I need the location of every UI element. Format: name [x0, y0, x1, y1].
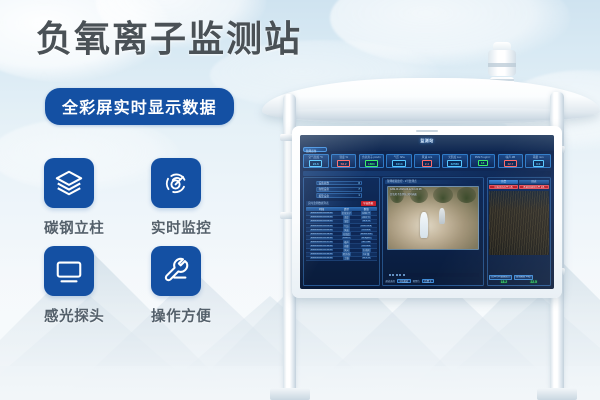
- dashboard-panels: 设备总数8在线设备7报警设备1 实时监测数据列表 导出数据 时间类型数值 202…: [303, 177, 551, 286]
- kpi-name: 湿度 %: [339, 155, 348, 159]
- alert-chip[interactable]: 设备离线告警 1条: [489, 185, 518, 189]
- video-feed[interactable]: CAM-01 2023-06-12 10:24:08 负氧离子监测站 实时画面: [387, 186, 479, 250]
- feature-grid: 碳钢立柱 实时监控 感光探头: [44, 158, 258, 334]
- kpi-tile[interactable]: 湿度 %58.2: [331, 154, 357, 168]
- kpi-value: 58.2: [337, 160, 350, 167]
- table-cell: 2.4 m/s: [356, 229, 377, 231]
- kpi-value: 18: [478, 160, 488, 167]
- table-body: 2023-06-12 10:24:03负氧离子1860 个2023-06-12 …: [306, 212, 377, 261]
- table-cell: 2023-06-12 10:19:03: [306, 233, 337, 235]
- kpi-row: 空气温度 ℃24.6湿度 %58.2负氧离子 pcs/m1860气压 hPa10…: [303, 154, 551, 168]
- table-cell: 光照度: [337, 232, 355, 236]
- radar-icon: [161, 168, 191, 198]
- kpi-name: 光照度 Lux: [448, 155, 461, 159]
- table-cell: 土壤: [337, 256, 355, 260]
- table-cell: 2023-06-12 10:24:03: [306, 212, 337, 214]
- bezel-vent: [416, 130, 438, 132]
- kpi-value: 0.0: [533, 160, 544, 167]
- display-bezel: 监测站 监测点位 空气温度 ℃24.6湿度 %58.2负氧离子 pcs/m186…: [292, 126, 562, 298]
- stat-value: 8: [358, 182, 359, 185]
- kpi-tile[interactable]: 光照度 Lux32560: [442, 154, 468, 168]
- stat-line: 报警设备1: [316, 193, 362, 197]
- dashboard-screen[interactable]: 监测站 监测点位 空气温度 ℃24.6湿度 %58.2负氧离子 pcs/m186…: [300, 135, 554, 289]
- table-cell: 32560 Lux: [356, 233, 377, 235]
- snapshot-icon[interactable]: [396, 274, 398, 276]
- sensor-band: [488, 63, 516, 67]
- table-column-header: 时间: [306, 207, 337, 211]
- kpi-tile[interactable]: 气压 hPa1013: [386, 154, 412, 168]
- preset-label: 预置位: [413, 279, 420, 283]
- table-cell: 2023-06-12 10:18:03: [306, 237, 337, 239]
- kpi-tile[interactable]: PM2.5 ug/m³18: [470, 154, 496, 168]
- table-cell: 2023-06-12 10:23:03: [306, 216, 337, 218]
- table-cell: 2023-06-12 10:22:03: [306, 220, 337, 222]
- stat-label: 设备总数: [319, 181, 329, 185]
- table-cell: 58.2 %: [356, 220, 377, 222]
- monitor-icon: [54, 256, 84, 286]
- table-cell: 1860 个: [356, 211, 377, 215]
- feature-tile: [44, 158, 94, 208]
- stat-line: 设备总数8: [316, 181, 362, 185]
- feature-label: 感光探头: [44, 305, 151, 326]
- stat-box: 设备总数8在线设备7报警设备1: [316, 181, 362, 200]
- kpi-value: 1013: [392, 160, 405, 167]
- feature-tile: [151, 246, 201, 296]
- panel-video: 现场视频监控 - 1号监测点 CAM-01 2023-06-12 10:24:0…: [382, 177, 484, 286]
- stat-label: 报警设备: [319, 194, 329, 198]
- pause-icon[interactable]: [392, 274, 394, 276]
- channel-select[interactable]: 1号通道: [397, 279, 411, 283]
- table-caption: 实时监测数据列表: [307, 201, 329, 205]
- table-cell: 0.0 mm: [356, 245, 377, 247]
- alert-tabs: 告警日志: [489, 180, 548, 184]
- table-toolbar: 实时监测数据列表 导出数据: [306, 201, 377, 206]
- kpi-tile[interactable]: 空气温度 ℃24.6: [303, 154, 329, 168]
- feature-item-steel-column[interactable]: 碳钢立柱: [44, 158, 151, 246]
- stat-value: 1: [358, 194, 359, 197]
- feature-tile: [151, 158, 201, 208]
- kpi-tile[interactable]: 雨量 mm0.0: [525, 154, 551, 168]
- table-column-header: 类型: [337, 207, 355, 211]
- alert-chip[interactable]: 数据超阈值告警 2条: [519, 185, 548, 189]
- kpi-name: 噪声 dB: [506, 155, 515, 159]
- table-cell: 2023-06-12 10:16:03: [306, 245, 337, 247]
- tree-shape: [457, 187, 477, 203]
- monitoring-station-kiosk: 监测站 监测点位 空气温度 ℃24.6湿度 %58.2负氧离子 pcs/m186…: [252, 0, 600, 400]
- wrench-icon: [161, 256, 191, 286]
- kpi-value: 1860: [365, 160, 378, 167]
- panel-alerts: 告警日志 设备离线告警 1条数据超阈值告警 2条 近24小时数据统计自动刷新 3…: [487, 177, 551, 286]
- feature-item-easy-operation[interactable]: 操作方便: [151, 246, 258, 334]
- kpi-name: PM2.5 ug/m³: [475, 156, 490, 159]
- feature-item-light-sensor[interactable]: 感光探头: [44, 246, 151, 334]
- pole-base: [537, 388, 577, 400]
- panel-statistics: 设备总数8在线设备7报警设备1 实时监测数据列表 导出数据 时间类型数值 202…: [303, 177, 380, 286]
- channel-label: 通道选择: [385, 279, 395, 283]
- feature-item-realtime-monitoring[interactable]: 实时监控: [151, 158, 258, 246]
- stat-label: 在线设备: [319, 187, 329, 191]
- station-tag[interactable]: 监测点位: [303, 147, 327, 152]
- scene-thumbnail[interactable]: [489, 191, 548, 255]
- kpi-value: 42.7: [504, 160, 517, 167]
- kpi-name: 气压 hPa: [394, 155, 405, 159]
- table-cell: 2023-06-12 10:21:03: [306, 225, 337, 227]
- table-cell: 24.6 ℃: [356, 216, 377, 219]
- table-cell: 2023-06-12 10:14:03: [306, 253, 337, 255]
- table-cell: PM2.5: [337, 237, 355, 239]
- tree-shape: [433, 187, 453, 203]
- table-header-row: 时间类型数值: [306, 207, 377, 211]
- table-column-header: 数值: [356, 207, 377, 211]
- table-cell: 42.7 dB: [356, 241, 377, 243]
- kpi-tile[interactable]: 风速 m/s2.4: [414, 154, 440, 168]
- stat-value: 7: [358, 188, 359, 191]
- record-icon[interactable]: [399, 274, 401, 276]
- alert-tab[interactable]: 告警: [489, 180, 518, 184]
- kpi-value: 24.6: [309, 160, 322, 167]
- divider-bar: [303, 171, 551, 176]
- feature-label: 操作方便: [151, 305, 258, 326]
- video-osd-line2: 负氧离子监测站 实时画面: [390, 192, 417, 196]
- video-header: 现场视频监控 - 1号监测点: [385, 180, 481, 184]
- kpi-tile[interactable]: 负氧离子 pcs/m1860: [359, 154, 385, 168]
- alert-buttons: 设备离线告警 1条数据超阈值告警 2条: [489, 185, 548, 189]
- video-control-bar[interactable]: [387, 273, 479, 276]
- kpi-name: 负氧离子 pcs/m: [362, 155, 381, 159]
- kpi-name: 雨量 mm: [533, 155, 544, 159]
- kpi-name: 风速 m/s: [422, 155, 432, 159]
- person-figure: [420, 212, 428, 238]
- table-cell: 2023-06-12 10:17:03: [306, 241, 337, 243]
- alert-tab[interactable]: 日志: [519, 180, 548, 184]
- table-cell: 2023-06-12 10:13:03: [306, 257, 337, 259]
- table-cell: 2023-06-12 10:15:03: [306, 249, 337, 251]
- person-figure: [439, 208, 445, 224]
- table-row[interactable]: 2023-06-12 10:13:03土壤21.5 %: [306, 257, 377, 261]
- feature-tile: [44, 246, 94, 296]
- table-cell: 3.2 级: [356, 252, 377, 256]
- numeric-readout: 22.5: [530, 280, 537, 284]
- kpi-value: 2.4: [422, 160, 433, 167]
- table-cell: 1013 hPa: [356, 225, 377, 227]
- table-cell: 18 ug/m³: [356, 237, 377, 239]
- feature-label: 碳钢立柱: [44, 217, 151, 238]
- layers-icon: [54, 168, 84, 198]
- play-icon[interactable]: [389, 274, 391, 276]
- kpi-value: 32560: [447, 160, 462, 167]
- pole-base: [270, 388, 310, 400]
- alert-footer: 近24小时数据统计自动刷新 30秒: [489, 275, 548, 279]
- alert-readouts: 18.222.5: [489, 280, 548, 284]
- video-selectors: 通道选择 1号通道 预置位 位置 1: [385, 278, 481, 283]
- table-cell: 21.5 %: [356, 257, 377, 259]
- feature-label: 实时监控: [151, 217, 258, 238]
- poster-stage: 负氧离子监测站 全彩屏实时显示数据 碳钢立柱: [0, 0, 600, 400]
- status-badge: 全彩屏实时显示数据: [45, 88, 234, 125]
- station-tag-label: 监测点位: [306, 149, 316, 153]
- canopy-underside: [268, 108, 594, 121]
- preset-select[interactable]: 位置 1: [422, 279, 434, 283]
- stat-line: 在线设备7: [316, 187, 362, 191]
- export-button[interactable]: 导出数据: [361, 201, 376, 206]
- kpi-name: 空气温度 ℃: [309, 155, 324, 159]
- table-cell: 2023-06-12 10:20:03: [306, 229, 337, 231]
- numeric-readout: 18.2: [501, 280, 508, 284]
- kpi-tile[interactable]: 噪声 dB42.7: [498, 154, 524, 168]
- fullscreen-icon[interactable]: [403, 274, 405, 276]
- data-table[interactable]: 实时监测数据列表 导出数据 时间类型数值 2023-06-12 10:24:03…: [306, 201, 377, 283]
- video-osd-line1: CAM-01 2023-06-12 10:24:08: [390, 188, 422, 191]
- dashboard-title: 监测站: [420, 138, 433, 144]
